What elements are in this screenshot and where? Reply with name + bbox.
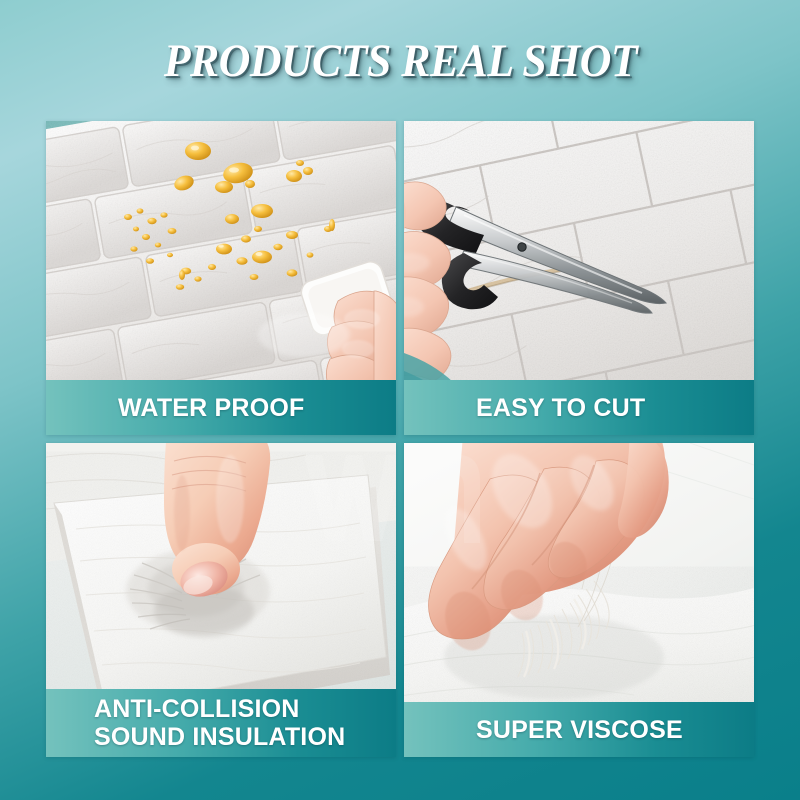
caption-bar-anti-collision: ANTI-COLLISION SOUND INSULATION (46, 689, 396, 757)
feature-card-water-proof[interactable]: WATER PROOF (46, 121, 396, 435)
caption-line-2: SOUND INSULATION (94, 723, 345, 751)
caption-bar-easy-to-cut: EASY TO CUT (404, 380, 754, 435)
feature-grid: WATER PROOF (46, 121, 754, 757)
caption-text: WATER PROOF (118, 394, 304, 422)
caption-line-1: ANTI-COLLISION (94, 695, 345, 723)
poster-header: PRODUCTS REAL SHOT (0, 34, 800, 88)
page-title: PRODUCTS REAL SHOT (163, 34, 636, 88)
feature-card-super-viscose[interactable]: SUPER VISCOSE (404, 443, 754, 757)
feature-card-easy-to-cut[interactable]: EASY TO CUT (404, 121, 754, 435)
caption-text: EASY TO CUT (476, 394, 645, 422)
caption-bar-water-proof: WATER PROOF (46, 380, 396, 435)
product-feature-poster: PRODUCTS REAL SHOT (0, 0, 800, 800)
caption-text: SUPER VISCOSE (476, 716, 683, 744)
caption-bar-super-viscose: SUPER VISCOSE (404, 702, 754, 757)
caption-text: ANTI-COLLISION SOUND INSULATION (94, 695, 345, 751)
feature-card-anti-collision[interactable]: ANTI-COLLISION SOUND INSULATION (46, 443, 396, 757)
